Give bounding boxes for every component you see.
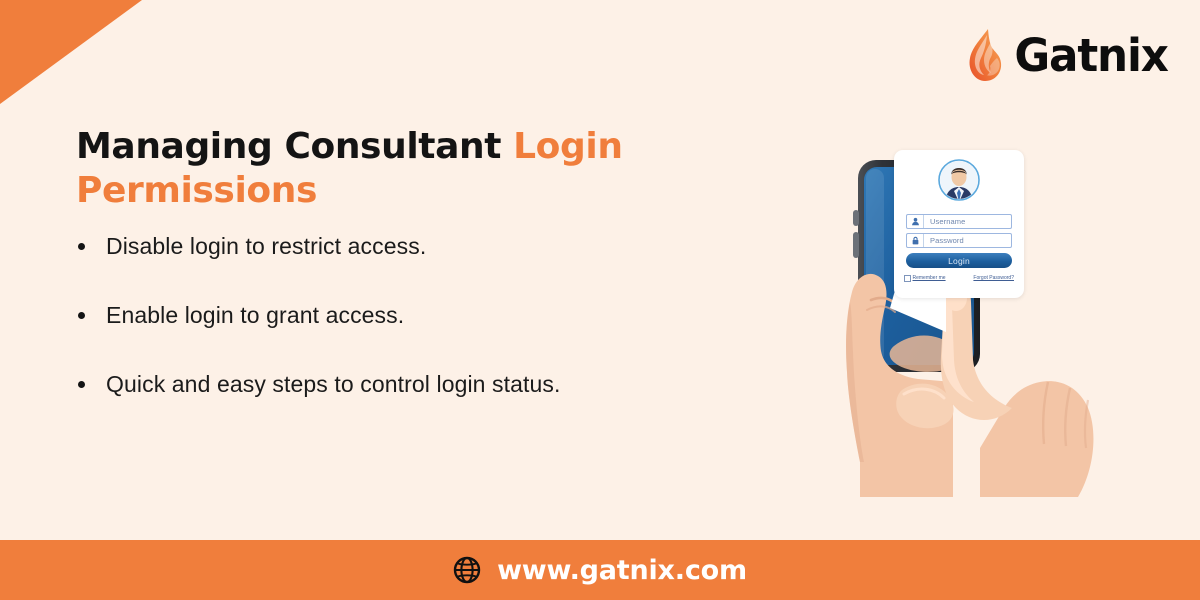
- flame-icon: [966, 28, 1006, 82]
- headline-accent-login: Login: [513, 126, 622, 167]
- remember-me-label: Remember me: [913, 275, 946, 281]
- password-field[interactable]: Password: [906, 233, 1012, 248]
- list-item: Disable login to restrict access.: [74, 232, 734, 261]
- lock-icon: [907, 234, 924, 247]
- slide-canvas: Gatnix Managing Consultant Login Permiss…: [0, 0, 1200, 600]
- username-field[interactable]: Username: [906, 214, 1012, 229]
- bullet-text: Disable login to restrict access.: [106, 233, 426, 259]
- login-card-footer: Remember me Forgot Password?: [904, 275, 1014, 282]
- login-button[interactable]: Login: [906, 253, 1012, 268]
- bullet-text: Enable login to grant access.: [106, 302, 404, 328]
- login-card: Username Password Login Remember me Forg…: [894, 150, 1024, 298]
- brand-name: Gatnix: [1014, 33, 1167, 78]
- list-item: Quick and easy steps to control login st…: [74, 370, 734, 399]
- password-placeholder: Password: [924, 236, 964, 245]
- list-item: Enable login to grant access.: [74, 301, 734, 330]
- forgot-password-link[interactable]: Forgot Password?: [973, 275, 1014, 281]
- user-avatar-icon: [937, 158, 981, 202]
- headline-lead: Managing Consultant: [76, 126, 513, 167]
- footer-bar: www.gatnix.com: [0, 540, 1200, 600]
- remember-me-checkbox[interactable]: Remember me: [904, 275, 946, 282]
- feature-bullet-list: Disable login to restrict access. Enable…: [74, 232, 734, 398]
- user-icon: [907, 215, 924, 228]
- headline-accent-permissions: Permissions: [76, 170, 317, 211]
- checkbox-box: [904, 275, 911, 282]
- corner-accent-triangle: [0, 0, 142, 104]
- username-placeholder: Username: [924, 217, 965, 226]
- page-title: Managing Consultant Login Permissions: [76, 125, 696, 213]
- bullet-text: Quick and easy steps to control login st…: [106, 371, 561, 397]
- website-url: www.gatnix.com: [497, 555, 747, 586]
- globe-icon: [453, 556, 481, 584]
- brand-logo: Gatnix: [966, 28, 1170, 82]
